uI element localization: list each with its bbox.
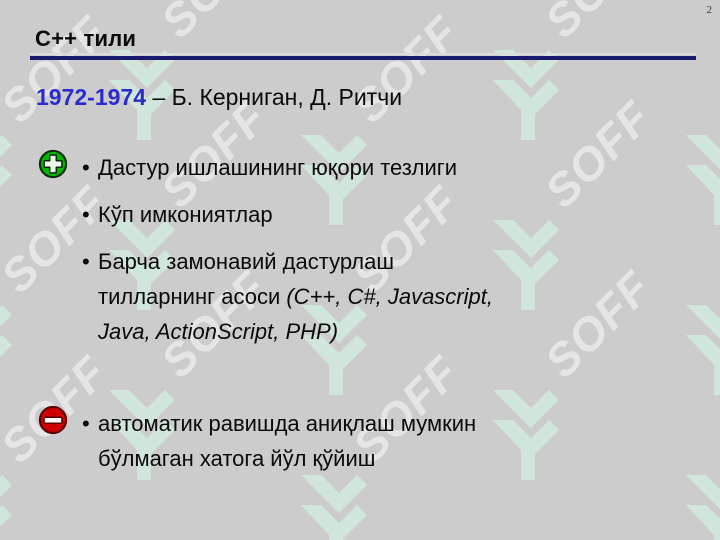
list-item: •Барча замонавий дастурлаш (82, 244, 394, 280)
list-item-label: Дастур ишлашининг юқори тезлиги (98, 155, 457, 180)
list-item-label: Барча замонавий дастурлаш (98, 249, 394, 274)
subtitle-years: 1972-1974 (36, 84, 146, 110)
list-item: •Кўп имкониятлар (82, 197, 273, 233)
list-item-label: автоматик равишда аниқлаш мумкин (98, 411, 476, 436)
subtitle-authors: – Б. Керниган, Д. Ритчи (146, 84, 402, 110)
title-rule (30, 56, 696, 60)
list-item-continuation: тилларнинг асоси (C++, C#, Javascript, (98, 279, 493, 315)
bullet-dot: • (82, 244, 98, 280)
bullet-dot: • (82, 406, 98, 442)
list-item-continuation-plain: тилларнинг асоси (98, 284, 286, 309)
green-plus-icon (38, 149, 68, 179)
list-item-continuation: Java, ActionScript, PHP) (98, 314, 338, 350)
list-item-label: Кўп имкониятлар (98, 202, 273, 227)
red-minus-icon (38, 405, 68, 435)
title-rule-highlight (30, 53, 696, 55)
page-number: 2 (707, 4, 713, 16)
page-title: C++ тили (35, 26, 136, 52)
list-item: •автоматик равишда аниқлаш мумкин (82, 406, 476, 442)
slide-canvas: SOFFSOFFSOFFSOFFSOFFSOFFSOFFSOFFSOFFSOFF… (0, 0, 720, 540)
bullet-dot: • (82, 197, 98, 233)
list-item-continuation: бўлмаган хатога йўл қўйиш (98, 441, 375, 477)
slide-content: 2 C++ тили 1972-1974 – Б. Керниган, Д. Р… (0, 0, 720, 540)
subtitle: 1972-1974 – Б. Керниган, Д. Ритчи (36, 84, 402, 111)
list-item-continuation-italic: (C++, C#, Javascript, (286, 284, 493, 309)
bullet-dot: • (82, 150, 98, 186)
list-item: •Дастур ишлашининг юқори тезлиги (82, 150, 457, 186)
